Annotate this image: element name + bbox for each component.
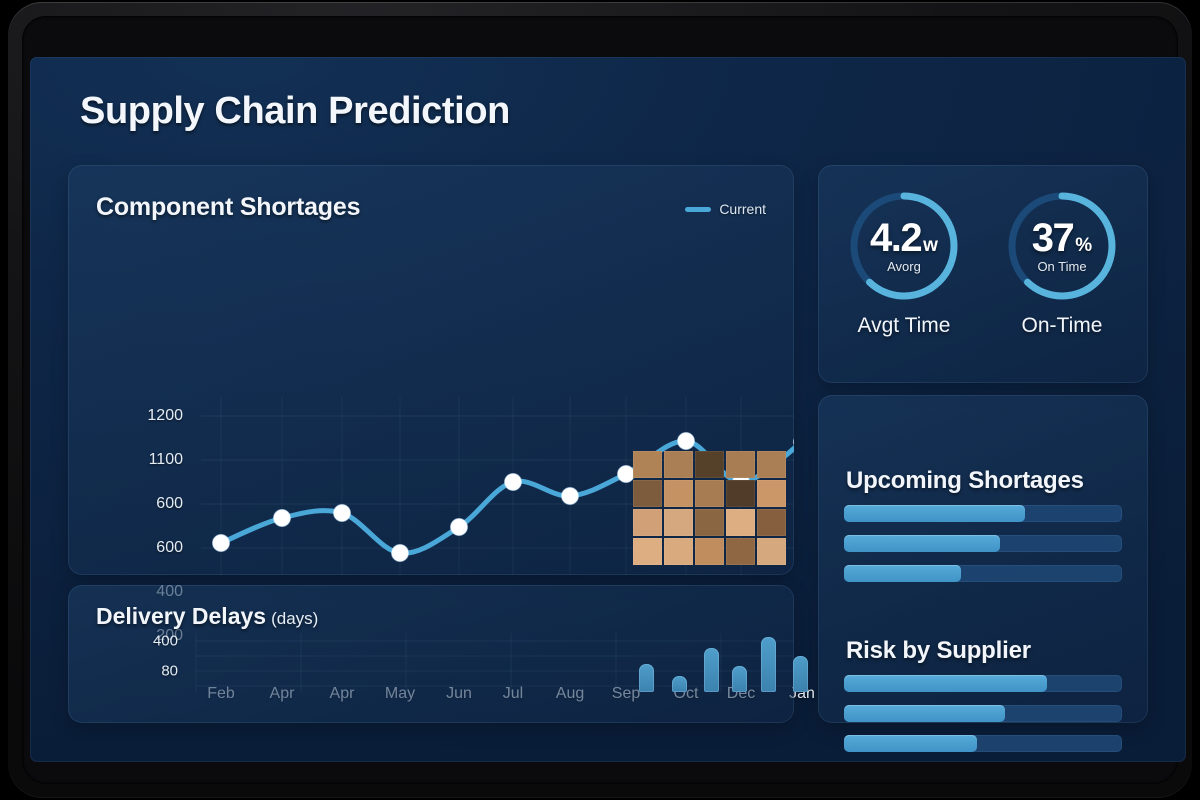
gauge-sublabel-on-time: On Time	[1037, 259, 1086, 274]
heatmap-cell	[664, 451, 693, 478]
upcoming-shortages-bars	[844, 505, 1122, 595]
progress-bar-fill	[844, 675, 1047, 692]
page-title: Supply Chain Prediction	[80, 90, 510, 133]
heatmap-cell	[726, 509, 755, 536]
heatmap-cell	[664, 480, 693, 507]
progress-bar-track	[844, 705, 1122, 722]
gauge-unit-avgt-time: w	[923, 235, 938, 257]
upcoming-shortages-title: Upcoming Shortages	[846, 467, 1084, 495]
heatmap-cell	[664, 509, 693, 536]
bar-chart-bar	[672, 676, 687, 692]
progress-bar-track	[844, 505, 1122, 522]
heatmap-cell	[695, 451, 724, 478]
bar-chart-bar	[704, 648, 719, 692]
kpi-gauge-avgt-time: 4.2 w Avorg Avgt Time	[830, 187, 978, 338]
gauge-sublabel-avgt-time: Avorg	[887, 259, 921, 274]
progress-bar-track	[844, 565, 1122, 582]
heatmap-cell	[726, 538, 755, 565]
progress-bar-track	[844, 675, 1122, 692]
gauge-value-on-time: 37	[1032, 218, 1074, 258]
progress-bar-track	[844, 735, 1122, 752]
bar-chart-bar	[761, 637, 776, 692]
heatmap-cell	[633, 451, 662, 478]
progress-bar-fill	[844, 705, 1005, 722]
gauge-center-on-time: 37 % On Time	[1003, 187, 1121, 305]
progress-bar-fill	[844, 565, 961, 582]
gauge-value-avgt-time: 4.2	[870, 218, 921, 258]
gauge-center-avgt-time: 4.2 w Avorg	[845, 187, 963, 305]
heatmap-cell	[695, 509, 724, 536]
heatmap-grid	[633, 451, 786, 565]
heatmap-cell	[757, 451, 786, 478]
progress-bar-track	[844, 535, 1122, 552]
shortages-and-risk-card: Upcoming Shortages Risk by Supplier	[818, 395, 1148, 723]
heatmap-cell	[757, 538, 786, 565]
heatmap-cell	[695, 538, 724, 565]
heatmap-cell	[633, 480, 662, 507]
line-chart-y-tick: 600	[123, 495, 183, 513]
tablet-device-frame: Supply Chain Prediction Component Shorta…	[8, 2, 1192, 798]
progress-bar-fill	[844, 735, 977, 752]
kpi-gauges-card: 4.2 w Avorg Avgt Time 3	[818, 165, 1148, 383]
risk-by-supplier-bars	[844, 675, 1122, 762]
gauge-caption-on-time: On-Time	[988, 314, 1136, 338]
line-chart-y-tick: 600	[123, 539, 183, 557]
heatmap-cell	[633, 509, 662, 536]
gauge-ring-avgt-time: 4.2 w Avorg	[845, 187, 963, 305]
dashboard-screen: Supply Chain Prediction Component Shorta…	[30, 57, 1186, 762]
line-chart-y-tick: 1100	[123, 451, 183, 469]
risk-by-supplier-title: Risk by Supplier	[846, 637, 1031, 665]
gauge-caption-avgt-time: Avgt Time	[830, 314, 978, 338]
heatmap-cell	[726, 451, 755, 478]
bar-chart-bar	[793, 656, 808, 692]
heatmap-cell	[695, 480, 724, 507]
bar-chart-bar	[639, 664, 654, 692]
kpi-gauge-on-time: 37 % On Time On-Time	[988, 187, 1136, 338]
component-shortages-card: Component Shortages Current 120011006006…	[68, 165, 794, 575]
delivery-delays-card: Delivery Delays(days) 40080	[68, 585, 794, 723]
line-chart-y-tick: 1200	[123, 407, 183, 425]
progress-bar-fill	[844, 535, 1000, 552]
heatmap-cell	[757, 509, 786, 536]
bar-chart-bars	[68, 627, 794, 692]
gauge-unit-on-time: %	[1075, 235, 1092, 257]
progress-bar-fill	[844, 505, 1025, 522]
heatmap-cell	[633, 538, 662, 565]
heatmap-cell	[757, 480, 786, 507]
bar-chart-bar	[732, 666, 747, 692]
heatmap-cell	[664, 538, 693, 565]
heatmap-cell	[726, 480, 755, 507]
gauge-ring-on-time: 37 % On Time	[1003, 187, 1121, 305]
